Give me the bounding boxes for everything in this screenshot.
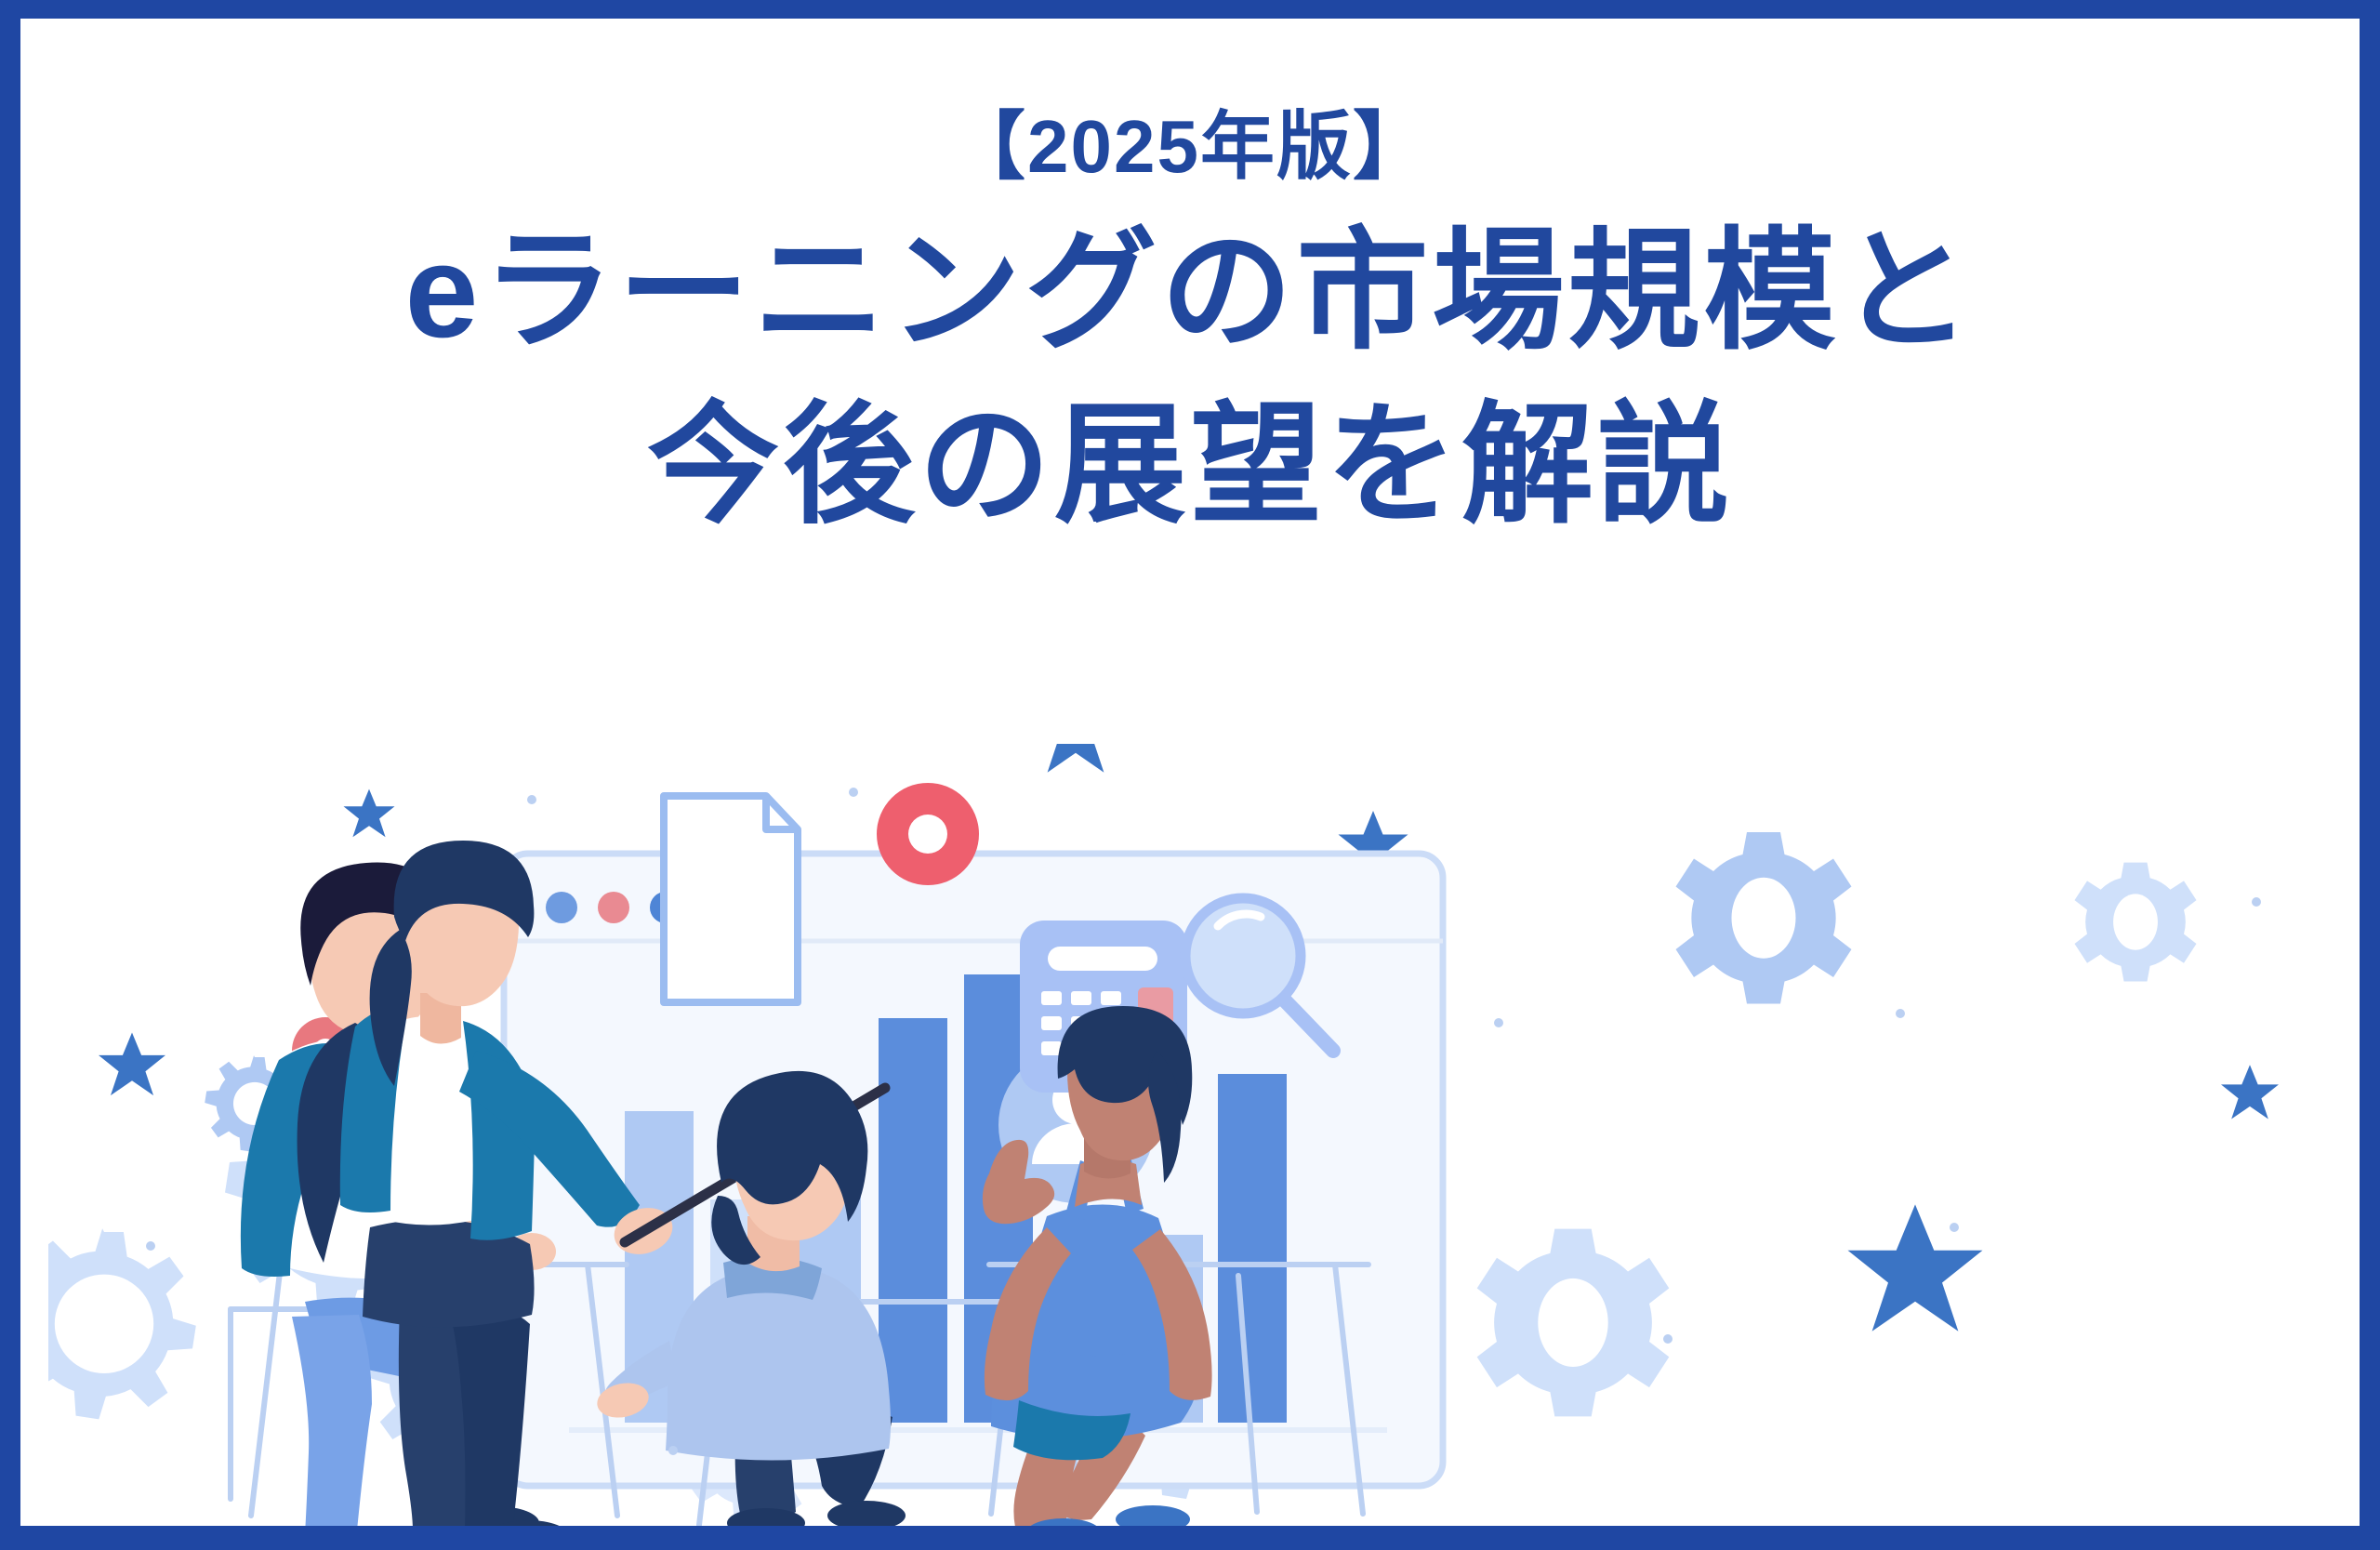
title-line-2: 今後の展望を解説: [20, 378, 2360, 552]
window-dot-2: [598, 892, 629, 923]
document-sheet-icon: [664, 796, 798, 1002]
gear-icon: [2074, 863, 2196, 982]
star-icon: [99, 1032, 165, 1095]
window-dot-1: [546, 892, 577, 923]
star-icon: [344, 789, 395, 838]
star-icon: [2221, 1065, 2279, 1119]
hero-illustration: [48, 744, 2341, 1526]
gear-icon: [1676, 832, 1852, 1004]
hero-banner-card: 【2025年版】 eラーニングの市場規模と 今後の展望を解説: [0, 0, 2380, 1550]
red-donut-icon: [877, 783, 979, 885]
star-icon: [1032, 744, 1120, 773]
banner-inner-surface: 【2025年版】 eラーニングの市場規模と 今後の展望を解説: [20, 19, 2360, 1526]
page-title: 【2025年版】 eラーニングの市場規模と 今後の展望を解説: [20, 104, 2360, 553]
title-eyebrow: 【2025年版】: [20, 104, 2360, 190]
gear-icon: [48, 1228, 196, 1419]
star-icon: [1848, 1204, 1983, 1331]
title-line-1: eラーニングの市場規模と: [20, 205, 2360, 378]
gear-icon: [1477, 1229, 1670, 1417]
